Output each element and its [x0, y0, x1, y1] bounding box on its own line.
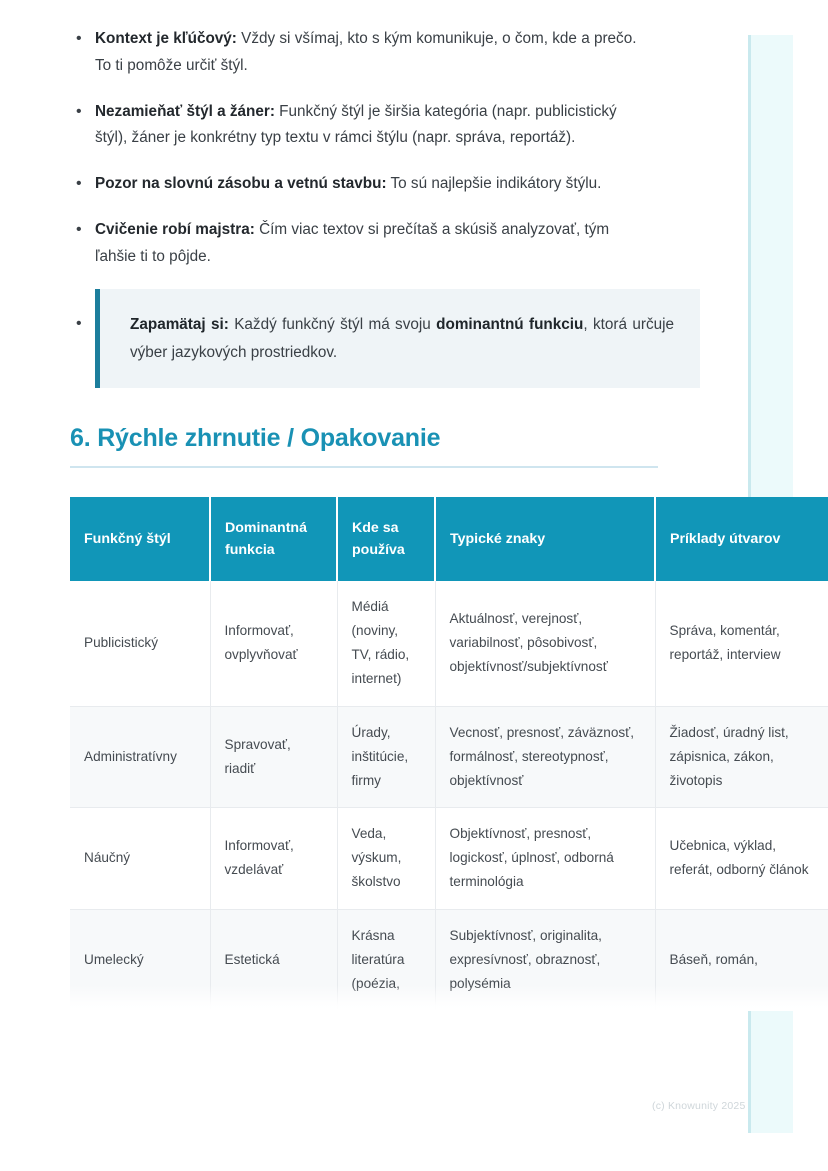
table-cell-usage: Úrady, inštitúcie, firmy — [337, 706, 435, 808]
bullet-item-slovna-zasoba: Pozor na slovnú zásobu a vetnú stavbu: T… — [0, 171, 828, 198]
bullet-item-cvicenie: Cvičenie robí majstra: Čím viac textov s… — [0, 217, 828, 271]
copyright-watermark: (c) Knowunity 2025 — [652, 1100, 745, 1112]
bullet-lead-kontext: Kontext je kľúčový: — [95, 30, 237, 47]
remember-callout: Zapamätaj si: Každý funkčný štýl má svoj… — [95, 289, 700, 387]
table-cell-function: Spravovať, riadiť — [210, 706, 337, 808]
table-cell-features: Subjektívnosť, originalita, expresívnosť… — [435, 909, 655, 1011]
table-cell-usage: Veda, výskum, školstvo — [337, 808, 435, 910]
table-cell-function: Estetická — [210, 909, 337, 1011]
table-cell-features: Aktuálnosť, verejnosť, variabilnosť, pôs… — [435, 581, 655, 706]
table-cell-examples: Správa, komentár, reportáž, interview — [655, 581, 828, 706]
table-row: Administratívny Spravovať, riadiť Úrady,… — [70, 706, 828, 808]
table-header-row: Funkčný štýl Dominantná funkcia Kde sa p… — [70, 497, 828, 581]
table-head: Funkčný štýl Dominantná funkcia Kde sa p… — [70, 497, 828, 581]
table-header-priklady-utvarov: Príklady útvarov — [655, 497, 828, 581]
table-cell-style: Publicistický — [70, 581, 210, 706]
callout-list-item: Zapamätaj si: Každý funkčný štýl má svoj… — [0, 289, 828, 387]
document-page: Kontext je kľúčový: Vždy si všímaj, kto … — [0, 0, 828, 1011]
bullet-lead-zaner: Nezamieňať štýl a žáner: — [95, 103, 275, 120]
summary-table-wrapper: Funkčný štýl Dominantná funkcia Kde sa p… — [70, 497, 828, 1011]
table-header-dominantna-funkcia: Dominantná funkcia — [210, 497, 337, 581]
callout-text-before: Každý funkčný štýl má svoju — [229, 316, 436, 333]
table-header-kde-sa-pouziva: Kde sa používa — [337, 497, 435, 581]
bullet-item-zaner: Nezamieňať štýl a žáner: Funkčný štýl je… — [0, 99, 828, 153]
table-cell-style: Umelecký — [70, 909, 210, 1011]
callout-lead: Zapamätaj si: — [130, 316, 229, 333]
table-cell-style: Administratívny — [70, 706, 210, 808]
table-cell-features: Objektívnosť, presnosť, logickosť, úplno… — [435, 808, 655, 910]
table-cell-features: Vecnosť, presnosť, záväznosť, formálnosť… — [435, 706, 655, 808]
functional-styles-table: Funkčný štýl Dominantná funkcia Kde sa p… — [70, 497, 828, 1011]
table-row: Umelecký Estetická Krásna literatúra (po… — [70, 909, 828, 1011]
table-cell-usage: Médiá (noviny, TV, rádio, internet) — [337, 581, 435, 706]
bullet-lead-cvicenie: Cvičenie robí majstra: — [95, 221, 255, 238]
table-cell-usage: Krásna literatúra (poézia, — [337, 909, 435, 1011]
table-cell-examples: Žiadosť, úradný list, zápisnica, zákon, … — [655, 706, 828, 808]
bullet-text-slovna-zasoba: To sú najlepšie indikátory štýlu. — [387, 175, 602, 192]
tips-bullet-list: Kontext je kľúčový: Vždy si všímaj, kto … — [0, 26, 828, 388]
section-heading-summary: 6. Rýchle zhrnutie / Opakovanie — [70, 424, 658, 468]
table-body: Publicistický Informovať, ovplyvňovať Mé… — [70, 581, 828, 1011]
table-header-typicke-znaky: Typické znaky — [435, 497, 655, 581]
callout-emphasis: dominantnú funkciu — [436, 316, 583, 333]
table-cell-examples: Učebnica, výklad, referát, odborný článo… — [655, 808, 828, 910]
table-cell-examples: Báseň, román, — [655, 909, 828, 1011]
table-header-funkcny-styl: Funkčný štýl — [70, 497, 210, 581]
table-cell-function: Informovať, vzdelávať — [210, 808, 337, 910]
table-cell-function: Informovať, ovplyvňovať — [210, 581, 337, 706]
table-cell-style: Náučný — [70, 808, 210, 910]
table-row: Publicistický Informovať, ovplyvňovať Mé… — [70, 581, 828, 706]
bullet-item-kontext: Kontext je kľúčový: Vždy si všímaj, kto … — [0, 26, 828, 80]
bullet-lead-slovna-zasoba: Pozor na slovnú zásobu a vetnú stavbu: — [95, 175, 387, 192]
table-row: Náučný Informovať, vzdelávať Veda, výsku… — [70, 808, 828, 910]
